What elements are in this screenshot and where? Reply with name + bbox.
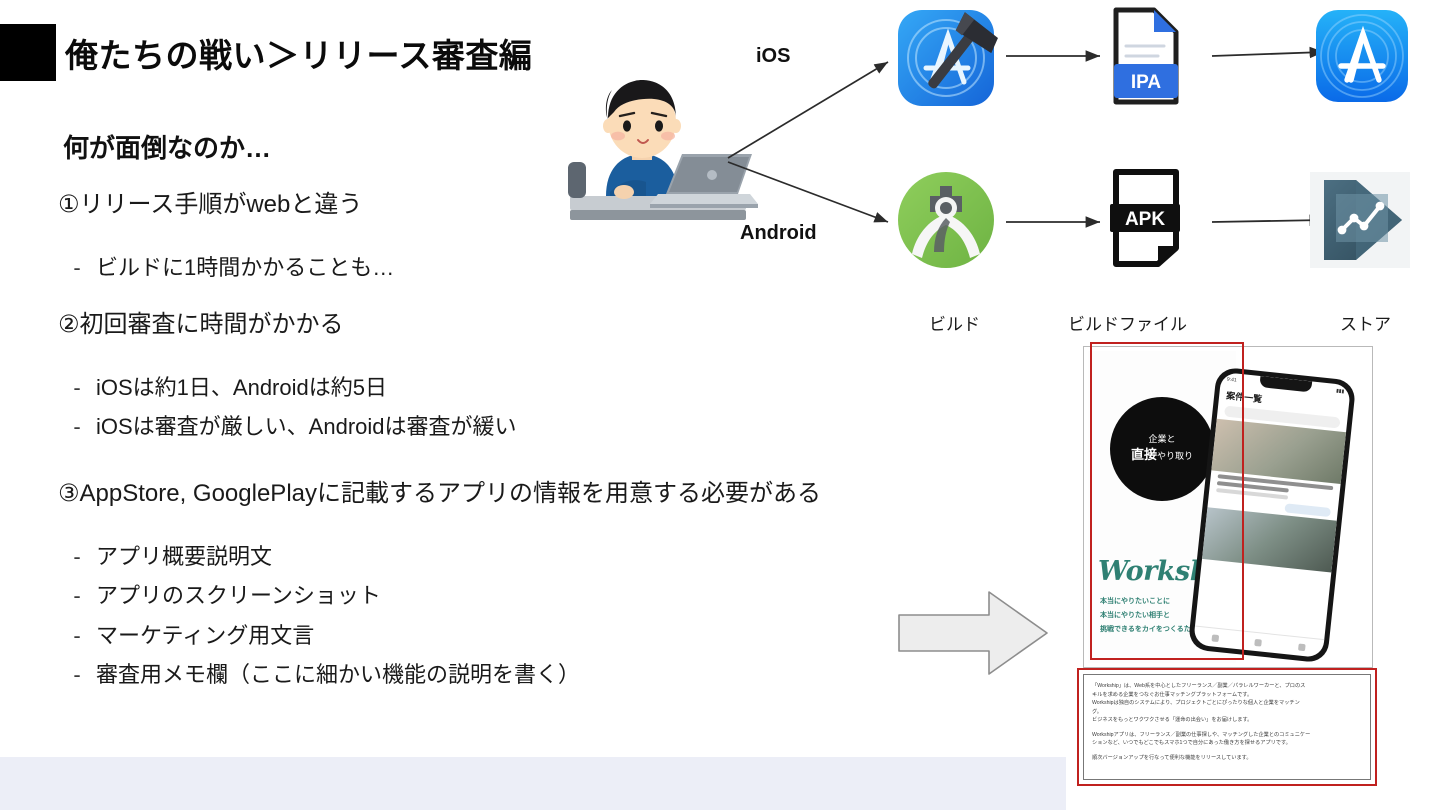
phone-tab-item[interactable] <box>1212 634 1220 642</box>
phone-mockup: 9:41 ▮▮▮ 案件一覧 <box>1188 366 1357 663</box>
app-store-icon <box>1316 10 1408 102</box>
list-item: ③AppStore, GooglePlayに記載するアプリの情報を用意する必要が… <box>58 479 978 509</box>
phone-card-image <box>1211 419 1346 484</box>
branch-label-android: Android <box>740 222 817 245</box>
hero-circle-line2-rest: やり取り <box>1157 451 1193 461</box>
bullet-dash: - <box>58 582 96 610</box>
hero-circle-line1: 企業と <box>1148 433 1175 446</box>
description-line: グ。 <box>1092 708 1362 717</box>
ipa-file-label: IPA <box>1131 72 1162 93</box>
list-item-label: iOSは約1日、Androidは約5日 <box>96 374 387 402</box>
branch-label-ios: iOS <box>756 45 790 68</box>
bullet-dash: - <box>58 374 96 402</box>
hero-circle-line2-strong: 直接 <box>1131 447 1157 462</box>
list-item-label: アプリ概要説明文 <box>96 543 272 571</box>
status-indicators: ▮▮▮ <box>1336 388 1345 395</box>
description-line: ビジネスをもっとワクワクさせる「運命の出会い」をお届けします。 <box>1092 716 1362 725</box>
list-item: - 審査用メモ欄（ここに細かい機能の説明を書く） <box>58 661 978 689</box>
apk-file-icon: APK <box>1110 172 1180 264</box>
description-line: Workshipは独自のシステムにより、プロジェクトごとにぴったりな個人と企業を… <box>1092 699 1362 708</box>
phone-tab-item[interactable] <box>1298 643 1306 651</box>
description-line: 「Workship」は、Web系を中心としたフリーランス／副業／パラレルワーカー… <box>1092 682 1362 691</box>
bullet-dash: - <box>58 543 96 571</box>
list-item-label: マーケティング用文言 <box>96 622 314 650</box>
bottom-decorative-band <box>0 757 1066 810</box>
column-caption-build: ビルド <box>929 310 980 335</box>
slide-title-block: 俺たちの戦い＞リリース審査編 <box>0 24 532 81</box>
google-play-console-icon <box>1310 172 1410 268</box>
bullet-dash: - <box>58 661 96 689</box>
bullet-dash: - <box>58 254 96 282</box>
list-item-label: ビルドに1時間かかることも… <box>96 254 394 282</box>
xcode-icon <box>898 10 1001 106</box>
hero-tagline: 本当にやりたいことに <box>1100 596 1170 606</box>
description-line: キルを求める企業をつなぐお仕事マッチングプラットフォームです。 <box>1092 691 1362 700</box>
description-line: 順次バージョンアップを行なって便利な機能をリリースしています。 <box>1092 754 1362 763</box>
hero-circle-badge: 企業と 直接やり取り <box>1110 397 1214 501</box>
list-item-label: 審査用メモ欄（ここに細かい機能の説明を書く） <box>96 661 580 689</box>
list-item: - アプリのスクリーンショット <box>58 582 978 610</box>
list-item: - iOSは約1日、Androidは約5日 <box>58 374 978 402</box>
phone-card-image <box>1202 507 1337 572</box>
description-line: Workshipアプリは、フリーランス／副業の仕事探しや、マッチングした企業との… <box>1092 731 1362 740</box>
description-line: ションなど、いつでもどこでもスマホ1つで自分にあった働き方を探せるアプリです。 <box>1092 739 1362 748</box>
phone-card-cta[interactable] <box>1284 503 1331 517</box>
bullet-dash: - <box>58 622 96 650</box>
developer-at-laptop-icon <box>568 80 758 220</box>
list-item-label: iOSは審査が厳しい、Androidは審査が緩い <box>96 413 517 441</box>
list-item: - マーケティング用文言 <box>58 622 978 650</box>
bullet-dash: - <box>58 413 96 441</box>
list-item: - iOSは審査が厳しい、Androidは審査が緩い <box>58 413 978 441</box>
phone-tab-item[interactable] <box>1255 638 1263 646</box>
slide-canvas: 俺たちの戦い＞リリース審査編 何が面倒なのか… ①リリース手順がwebと違う -… <box>0 0 1440 810</box>
list-item-label: アプリのスクリーンショット <box>96 582 381 610</box>
phone-screen: 9:41 ▮▮▮ 案件一覧 <box>1193 372 1351 658</box>
title-accent-square <box>0 24 56 81</box>
hero-tagline: 本当にやりたい相手と <box>1100 610 1170 620</box>
ipa-file-icon: IPA <box>1114 10 1178 102</box>
column-caption-store: ストア <box>1340 310 1391 335</box>
app-description-box: 「Workship」は、Web系を中心としたフリーランス／副業／パラレルワーカー… <box>1083 674 1371 780</box>
apk-file-label: APK <box>1125 209 1165 230</box>
release-flow-diagram: IPA APK <box>540 0 1440 340</box>
big-right-arrow-icon <box>897 588 1049 678</box>
app-store-listing-screenshot-panel: 企業と 直接やり取り Workship 本当にやりたいことに 本当にやりたい相手… <box>1083 346 1373 668</box>
column-caption-build-file: ビルドファイル <box>1068 310 1187 335</box>
page-title: 俺たちの戦い＞リリース審査編 <box>65 29 532 77</box>
android-studio-icon <box>898 172 994 268</box>
status-time: 9:41 <box>1227 377 1237 384</box>
section-subheading: 何が面倒なのか… <box>63 128 271 165</box>
list-item: - アプリ概要説明文 <box>58 543 978 571</box>
